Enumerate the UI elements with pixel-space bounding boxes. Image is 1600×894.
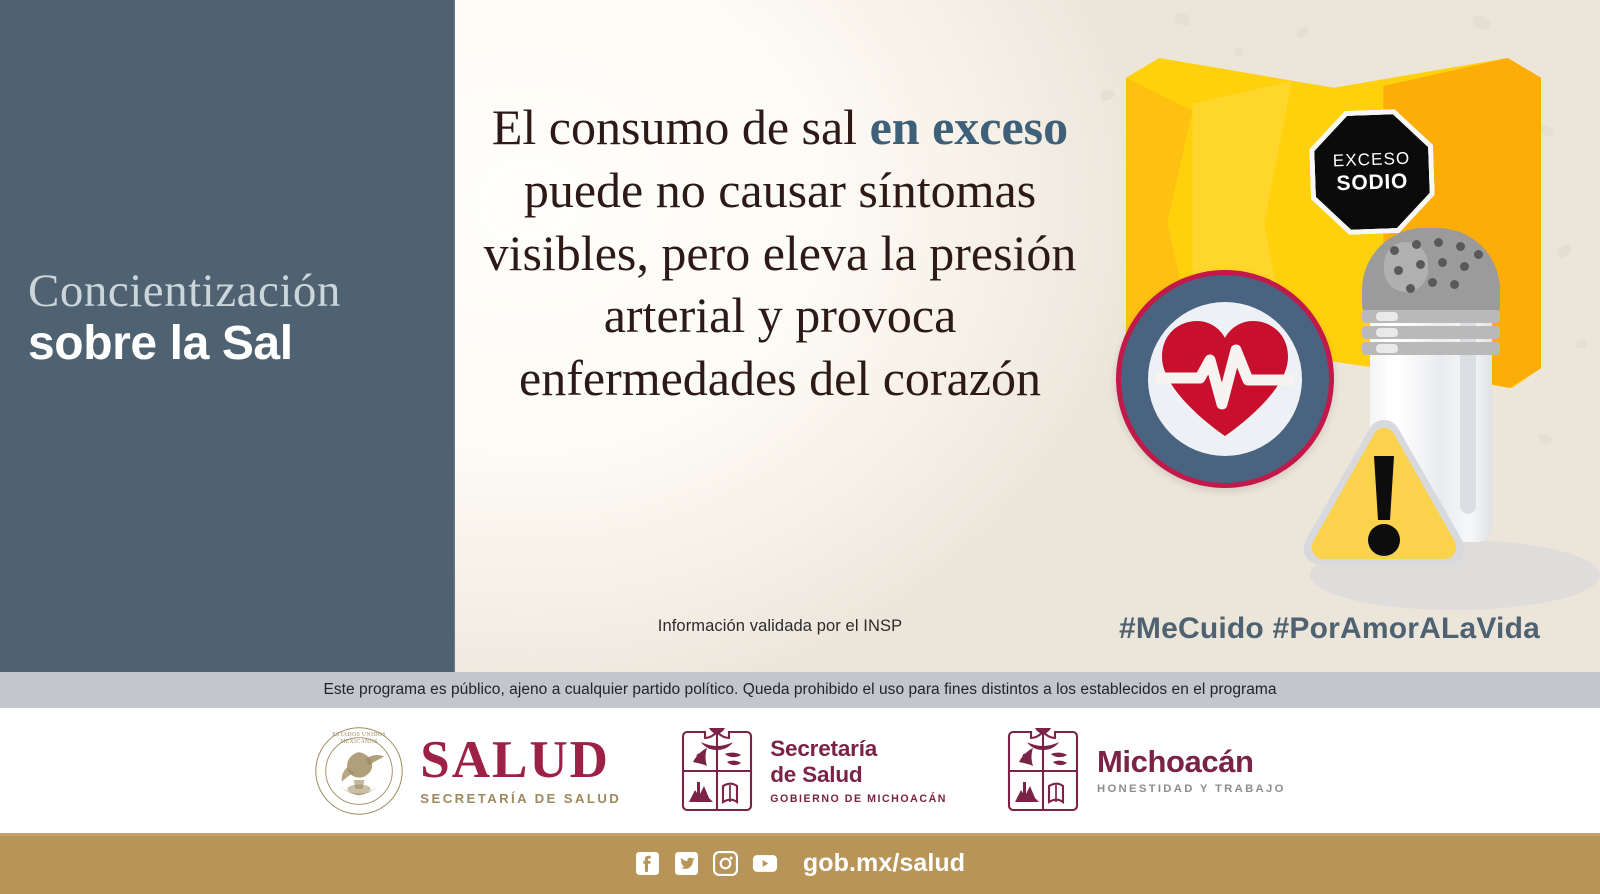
shaker-cap <box>1362 228 1500 314</box>
secretaria-wordmark: Secretaría de Salud GOBIERNO DE MICHOACÁ… <box>770 736 947 804</box>
warning-triangle-icon <box>1296 412 1472 566</box>
social-media-bar: gob.mx/salud <box>0 833 1600 894</box>
michoacan-wordmark: Michoacán HONESTIDAD Y TRABAJO <box>1097 746 1286 795</box>
logo-secretaria-salud-michoacan: Secretaría de Salud GOBIERNO DE MICHOACÁ… <box>679 728 947 814</box>
illustration-group: EXCESO SODIO <box>1080 0 1600 660</box>
svg-text:MEXICANOS: MEXICANOS <box>341 739 378 745</box>
left-title-panel: Concientización sobre la Sal <box>0 0 455 672</box>
message-highlight: en exceso <box>870 99 1069 155</box>
stamp-inner: EXCESO SODIO <box>1313 113 1431 231</box>
stamp-label-sodio: SODIO <box>1336 169 1409 197</box>
logo-michoacan-state: Michoacán HONESTIDAD Y TRABAJO <box>1005 728 1286 814</box>
poster-title-line1: Concientización <box>28 268 433 315</box>
salud-name: SALUD <box>420 735 621 787</box>
instagram-icon[interactable] <box>713 851 739 877</box>
twitter-icon[interactable] <box>674 851 700 877</box>
heart-pulse-icon <box>1156 316 1294 440</box>
facebook-icon[interactable] <box>635 851 661 877</box>
warning-triangle-illustration <box>1296 412 1472 566</box>
mexican-coat-of-arms-icon: ESTADOS UNIDOS MEXICANOS <box>314 726 404 816</box>
poster-title-line2: sobre la Sal <box>28 317 433 371</box>
logo-salud-federal: ESTADOS UNIDOS MEXICANOS SALUD SECRETARÍ… <box>314 726 621 816</box>
panel-title-block: Concientización sobre la Sal <box>28 268 433 371</box>
poster-top-area: Concientización sobre la Sal El consumo … <box>0 0 1600 672</box>
message-part1: El consumo de sal <box>492 99 870 155</box>
secretaria-name-line1: Secretaría <box>770 736 947 762</box>
public-program-disclaimer: Este programa es público, ajeno a cualqu… <box>0 672 1600 708</box>
disclaimer-text: Este programa es público, ajeno a cualqu… <box>323 681 1276 699</box>
secretaria-name-line2: de Salud <box>770 762 947 788</box>
salud-subtitle: SECRETARÍA DE SALUD <box>420 791 621 806</box>
stamp-label-exceso: EXCESO <box>1332 147 1410 171</box>
michoacan-shield-icon <box>1005 728 1081 814</box>
website-url[interactable]: gob.mx/salud <box>803 849 965 878</box>
validation-note: Información validada por el INSP <box>466 617 1094 636</box>
secretaria-subtitle: GOBIERNO DE MICHOACÁN <box>770 793 947 805</box>
main-message: El consumo de sal en exceso puede no cau… <box>466 96 1094 410</box>
salud-wordmark: SALUD SECRETARÍA DE SALUD <box>420 735 621 807</box>
svg-text:ESTADOS UNIDOS: ESTADOS UNIDOS <box>332 731 386 737</box>
michoacan-name: Michoacán <box>1097 746 1286 779</box>
youtube-icon[interactable] <box>752 851 778 877</box>
message-part2: puede no causar síntomas visibles, pero … <box>484 162 1077 406</box>
panel-edge-divider <box>452 0 455 672</box>
michoacan-subtitle: HONESTIDAD Y TRABAJO <box>1097 783 1286 795</box>
validation-note-text: Información validada por el INSP <box>658 617 902 635</box>
institutional-logo-bar: ESTADOS UNIDOS MEXICANOS SALUD SECRETARÍ… <box>0 708 1600 833</box>
infographic-poster: Concientización sobre la Sal El consumo … <box>0 0 1600 894</box>
michoacan-shield-icon <box>679 728 755 814</box>
